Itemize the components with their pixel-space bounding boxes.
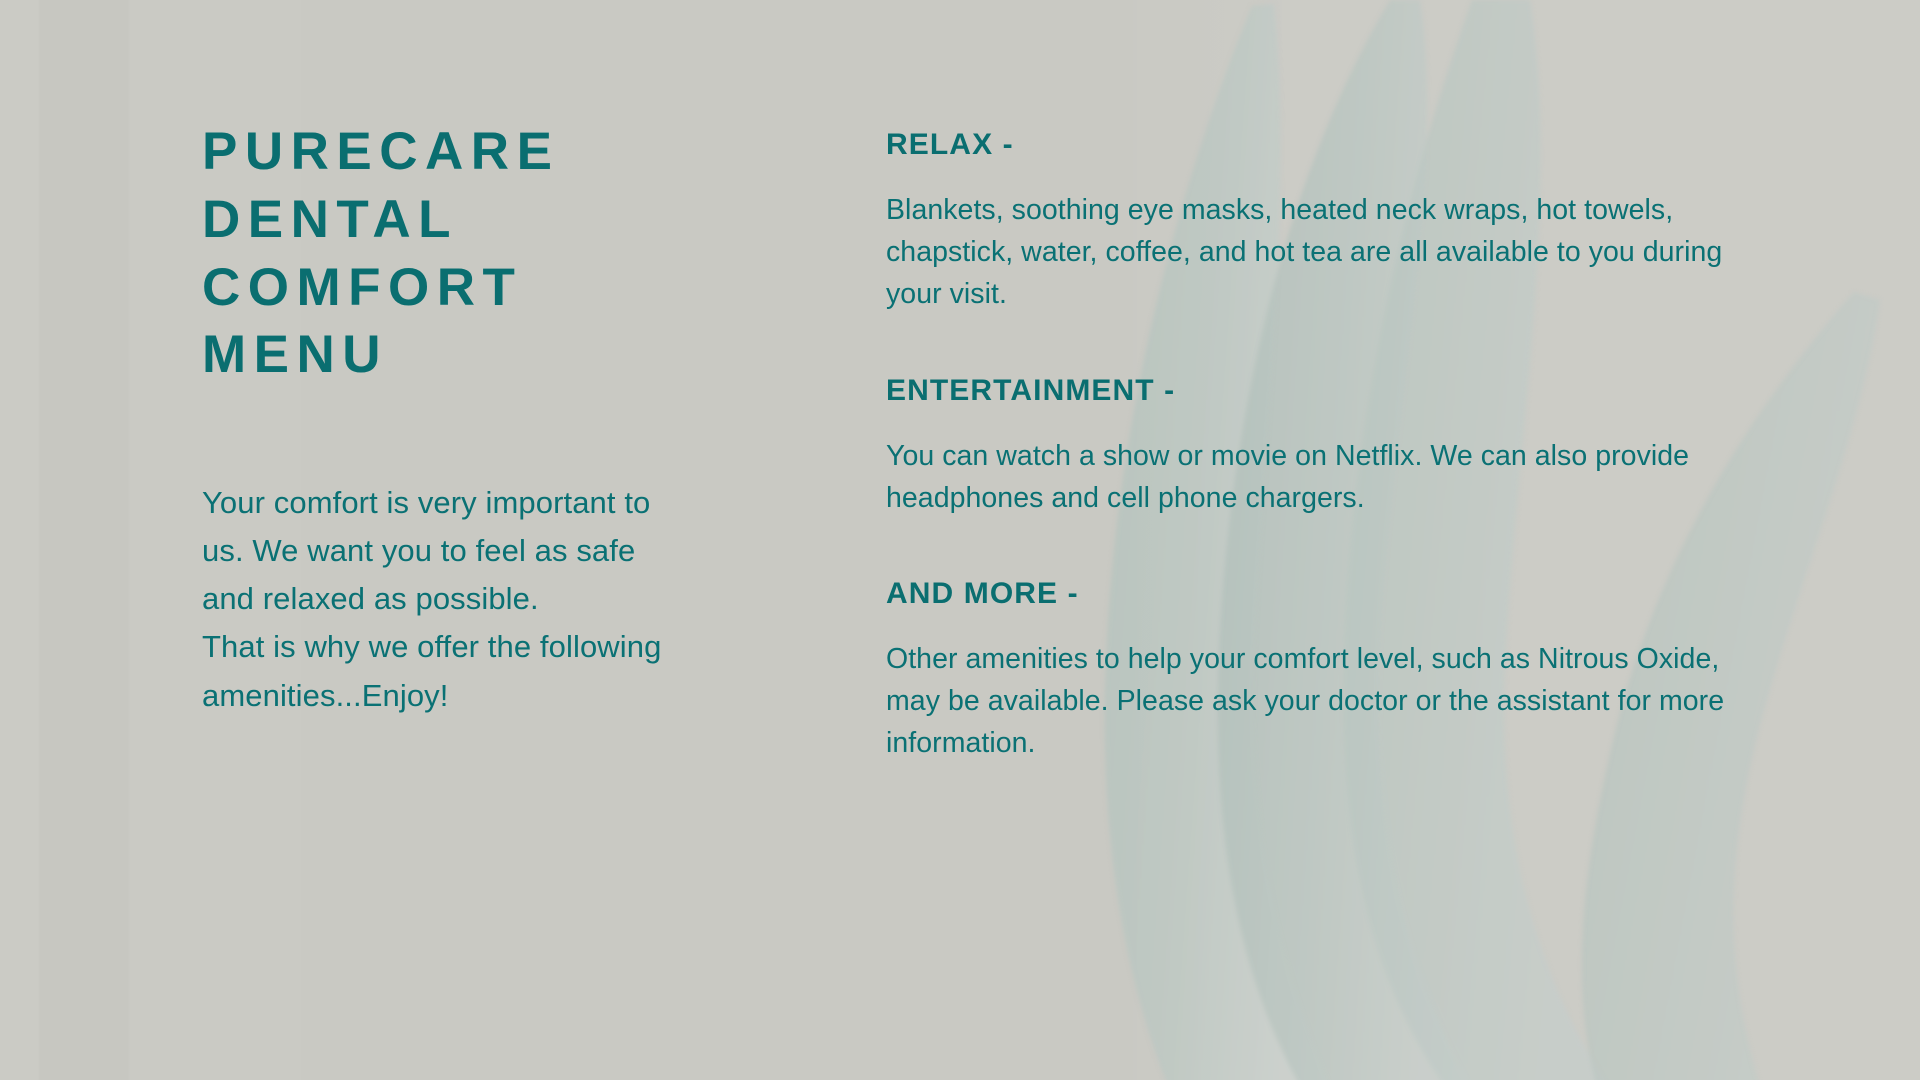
poster-canvas: PURECARE DENTAL COMFORT MENU Your comfor… [0,0,1920,1080]
page-title: PURECARE DENTAL COMFORT MENU [202,118,672,389]
section-heading-relax: RELAX - [886,128,1786,162]
section-body-entertainment: You can watch a show or movie on Netflix… [886,436,1776,520]
section-heading-entertainment: ENTERTAINMENT - [886,374,1786,408]
section-heading-and-more: AND MORE - [886,577,1786,611]
right-column: RELAX - Blankets, soothing eye masks, he… [886,128,1786,765]
intro-paragraph: Your comfort is very important to us. We… [202,479,672,719]
section-body-and-more: Other amenities to help your comfort lev… [886,639,1776,765]
section-relax: RELAX - Blankets, soothing eye masks, he… [886,128,1786,316]
left-column: PURECARE DENTAL COMFORT MENU Your comfor… [202,118,672,720]
section-body-relax: Blankets, soothing eye masks, heated nec… [886,190,1776,316]
section-entertainment: ENTERTAINMENT - You can watch a show or … [886,374,1786,520]
section-and-more: AND MORE - Other amenities to help your … [886,577,1786,765]
